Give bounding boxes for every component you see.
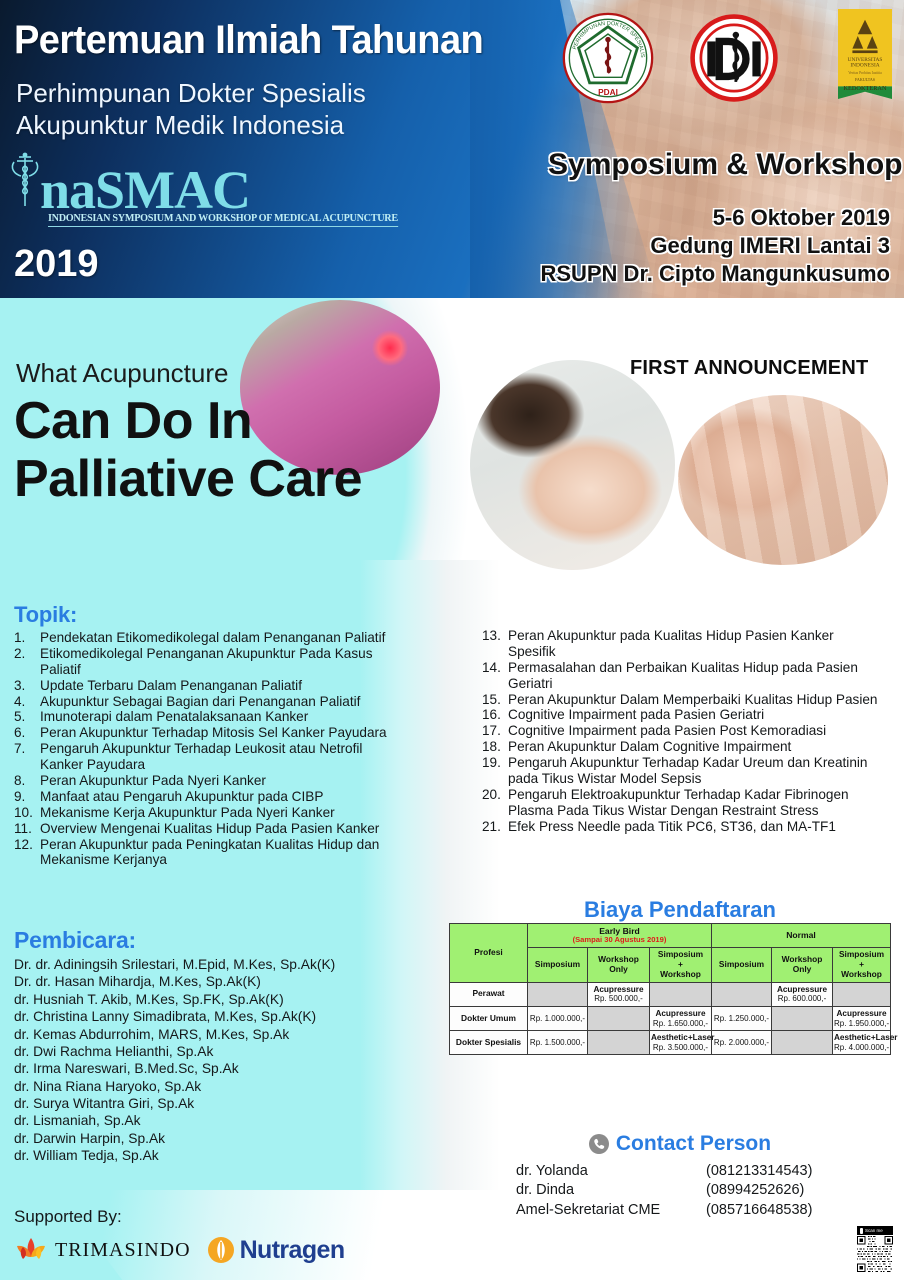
nasmac-logo: naSMAC INDONESIAN SYMPOSIUM AND WORKSHOP… [8,152,409,227]
caduceus-icon [8,152,42,208]
topic-item: 5.Imunoterapi dalam Penatalaksanaan Kank… [14,709,394,725]
fee-cell-eb-simposium: Rp. 1.000.000,- [528,1006,588,1030]
nutragen-wheat-icon [207,1236,235,1264]
fee-col-eb-workshop-l1: Workshop [598,954,639,964]
svg-text:KEDOKTERAN: KEDOKTERAN [843,85,886,92]
fee-group-normal: Normal [712,924,891,948]
contact-name: dr. Yolanda [516,1162,706,1181]
fee-cell-tag: Acupressure [651,1009,710,1019]
event-details: 5-6 Oktober 2019 Gedung IMERI Lantai 3 R… [540,204,890,288]
contact-row: dr. Yolanda(081213314543) [516,1162,856,1181]
fee-cell-n-simposium [712,982,772,1006]
topic-text: Cognitive Impairment pada Pasien Geriatr… [508,707,764,722]
speakers-list: Dr. dr. Adiningsih Srilestari, M.Epid, M… [14,956,414,1165]
qr-section[interactable]: Scan me [852,1226,898,1277]
speaker-item: dr. Husniah T. Akib, M.Kes, Sp.FK, Sp.Ak… [14,991,414,1008]
topic-number: 6. [14,725,36,741]
fee-cell-tag: Acupressure [834,1009,889,1019]
topic-text: Etikomedikolegal Penanganan Akupunktur P… [40,646,373,677]
fee-table-body: PerawatAcupressureRp. 500.000,-Acupressu… [450,982,891,1054]
nasmac-tagline: INDONESIAN SYMPOSIUM AND WORKSHOP OF MED… [48,213,398,227]
topic-item: 6.Peran Akupunktur Terhadap Mitosis Sel … [14,725,394,741]
topics-list-right: 13.Peran Akupunktur pada Kualitas Hidup … [482,628,884,835]
fee-cell-n-workshop [772,1031,833,1055]
topic-text: Peran Akupunktur Pada Nyeri Kanker [40,773,266,788]
topic-item: 7.Pengaruh Akupunktur Terhadap Leukosit … [14,741,394,773]
speaker-item: dr. Christina Lanny Simadibrata, M.Kes, … [14,1008,414,1025]
topic-number: 9. [14,789,36,805]
fee-col-eb-workshop-l2: Only [609,964,628,974]
topic-item: 18.Peran Akupunktur Dalam Cognitive Impa… [482,739,884,755]
topic-number: 8. [14,773,36,789]
fee-table-group-header-row: Profesi Early Bird (Sampai 30 Agustus 20… [450,924,891,948]
topic-number: 21. [482,819,504,835]
first-announcement-badge: FIRST ANNOUNCEMENT [630,357,868,380]
contact-row: dr. Dinda(08994252626) [516,1181,856,1200]
fee-cell-price: Rp. 2.000.000,- [714,1038,769,1047]
topic-number: 13. [482,628,504,644]
speaker-item: dr. William Tedja, Sp.Ak [14,1147,414,1164]
speaker-item: dr. Darwin Harpin, Sp.Ak [14,1130,414,1147]
fee-cell-eb-workshop [588,1006,650,1030]
fee-table-row: PerawatAcupressureRp. 500.000,-Acupressu… [450,982,891,1006]
fee-section-title: Biaya Pendaftaran [470,897,890,923]
fee-cell-price: Rp. 1.650.000,- [653,1019,708,1028]
topic-item: 3.Update Terbaru Dalam Penanganan Paliat… [14,678,394,694]
topic-text: Manfaat atau Pengaruh Akupunktur pada CI… [40,789,323,804]
topic-number: 12. [14,837,36,853]
topics-section-left: Topik: 1.Pendekatan Etikomedikolegal dal… [14,602,394,868]
fee-cell-n-combo [833,982,891,1006]
nasmac-wordmark: naSMAC [40,168,250,212]
fee-cell-price: Rp. 600.000,- [778,994,826,1003]
headline-main: Can Do In Palliative Care [14,392,362,508]
topic-item: 9.Manfaat atau Pengaruh Akupunktur pada … [14,789,394,805]
topic-text: Peran Akupunktur Dalam Memperbaiki Kuali… [508,692,878,707]
topic-text: Pengaruh Akupunktur Terhadap Leukosit at… [40,741,362,772]
topic-item: 17.Cognitive Impairment pada Pasien Post… [482,723,884,739]
fee-cell-price: Rp. 1.950.000,- [834,1019,889,1028]
topic-number: 5. [14,709,36,725]
fee-cell-price: Rp. 1.000.000,- [530,1014,585,1023]
topic-number: 2. [14,646,36,662]
fee-col-eb-simposium: Simposium [528,948,588,983]
fee-col-n-workshop-l1: Workshop [782,954,823,964]
topic-number: 17. [482,723,504,739]
topic-number: 7. [14,741,36,757]
event-year: 2019 [14,243,99,286]
svg-text:Veritas Probitas Iustitia: Veritas Probitas Iustitia [848,71,882,75]
fee-table-row: Dokter UmumRp. 1.000.000,-AcupressureRp.… [450,1006,891,1030]
fee-cell-n-combo: Aesthetic+LaserRp. 4.000.000,- [833,1031,891,1055]
phone-icon [589,1134,609,1154]
fee-cell-tag: Aesthetic+Laser [651,1033,710,1043]
topic-number: 11. [14,821,36,837]
fee-col-eb-combo-l2: + [678,959,683,969]
topic-text: Imunoterapi dalam Penatalaksanaan Kanker [40,709,308,724]
sponsor-logos: TRIMASINDO Nutragen [14,1235,345,1265]
headline-line-2: Palliative Care [14,450,362,508]
topic-number: 20. [482,787,504,803]
headline-kicker: What Acupuncture [16,358,228,389]
svg-text:FAKULTAS: FAKULTAS [855,77,875,82]
supported-by-label: Supported By: [14,1207,122,1227]
topic-text: Pendekatan Etikomedikolegal dalam Penang… [40,630,385,645]
topic-text: Pengaruh Akupunktur Terhadap Kadar Ureum… [508,755,867,786]
contact-name: dr. Dinda [516,1181,706,1200]
topic-text: Permasalahan dan Perbaikan Kualitas Hidu… [508,660,858,691]
topic-item: 11.Overview Mengenai Kualitas Hidup Pada… [14,821,394,837]
speaker-item: dr. Nina Riana Haryoko, Sp.Ak [14,1078,414,1095]
fee-cell-eb-simposium [528,982,588,1006]
topics-section-right: 13.Peran Akupunktur pada Kualitas Hidup … [482,626,884,835]
topics-list-left: 1.Pendekatan Etikomedikolegal dalam Pena… [14,630,394,868]
event-venue-building: Gedung IMERI Lantai 3 [540,232,890,260]
fee-cell-eb-workshop: AcupressureRp. 500.000,- [588,982,650,1006]
fee-cell-n-simposium: Rp. 1.250.000,- [712,1006,772,1030]
fee-row-profession: Dokter Spesialis [450,1031,528,1055]
topic-item: 13.Peran Akupunktur pada Kualitas Hidup … [482,628,884,660]
trimasindo-lotus-icon [14,1235,48,1265]
topic-item: 15.Peran Akupunktur Dalam Memperbaiki Ku… [482,692,884,708]
topic-number: 10. [14,805,36,821]
svg-text:INDONESIA: INDONESIA [850,63,879,69]
speakers-section: Pembicara: Dr. dr. Adiningsih Srilestari… [14,927,414,1165]
trimasindo-label: TRIMASINDO [55,1239,191,1262]
fee-cell-price: Rp. 1.500.000,- [530,1038,585,1047]
speaker-item: Dr. dr. Adiningsih Srilestari, M.Epid, M… [14,956,414,973]
speaker-item: dr. Irma Nareswari, B.Med.Sc, Sp.Ak [14,1060,414,1077]
speakers-heading: Pembicara: [14,927,414,954]
fee-group-early-note: (Sampai 30 Agustus 2019) [529,936,710,945]
topic-item: 16.Cognitive Impairment pada Pasien Geri… [482,707,884,723]
topic-item: 2.Etikomedikolegal Penanganan Akupunktur… [14,646,394,678]
fee-row-profession: Dokter Umum [450,1006,528,1030]
photo-facial-acupuncture [470,360,675,570]
topic-text: Pengaruh Elektroakupunktur Terhadap Kada… [508,787,849,818]
topic-item: 19.Pengaruh Akupunktur Terhadap Kadar Ur… [482,755,884,787]
photo-hand-acupressure [678,395,888,565]
contact-phone[interactable]: (085716648538) [706,1201,856,1220]
fee-col-n-combo: Simposium + Workshop [833,948,891,983]
topic-number: 4. [14,694,36,710]
contact-name: Amel-Sekretariat CME [516,1201,706,1220]
topic-text: Efek Press Needle pada Titik PC6, ST36, … [508,819,836,834]
fee-cell-eb-combo: Aesthetic+LaserRp. 3.500.000,- [650,1031,712,1055]
registration-fee-table: Profesi Early Bird (Sampai 30 Agustus 20… [449,923,891,1055]
topic-text: Peran Akupunktur Terhadap Mitosis Sel Ka… [40,725,387,740]
fee-cell-price: Rp. 4.000.000,- [834,1043,889,1052]
topic-item: 14.Permasalahan dan Perbaikan Kualitas H… [482,660,884,692]
fee-group-early-bird: Early Bird (Sampai 30 Agustus 2019) [528,924,712,948]
organization-line-1: Perhimpunan Dokter Spesialis [16,78,366,110]
contact-row: Amel-Sekretariat CME(085716648538) [516,1201,856,1220]
contact-list: dr. Yolanda(081213314543)dr. Dinda(08994… [516,1162,856,1220]
topic-text: Cognitive Impairment pada Pasien Post Ke… [508,723,826,738]
topic-text: Akupunktur Sebagai Bagian dari Penangana… [40,694,360,709]
topic-text: Peran Akupunktur Dalam Cognitive Impairm… [508,739,791,754]
fee-cell-price: Rp. 500.000,- [594,994,642,1003]
fee-col-n-simposium: Simposium [712,948,772,983]
speaker-item: Dr. dr. Hasan Mihardja, M.Kes, Sp.Ak(K) [14,973,414,990]
fee-cell-n-simposium: Rp. 2.000.000,- [712,1031,772,1055]
topic-item: 1.Pendekatan Etikomedikolegal dalam Pena… [14,630,394,646]
contact-phone[interactable]: (081213314543) [706,1162,856,1181]
fee-col-eb-workshop: Workshop Only [588,948,650,983]
topic-text: Peran Akupunktur pada Peningkatan Kualit… [40,837,379,868]
speaker-item: dr. Surya Witantra Giri, Sp.Ak [14,1095,414,1112]
fee-table-row: Dokter SpesialisRp. 1.500.000,-Aesthetic… [450,1031,891,1055]
fee-cell-n-combo: AcupressureRp. 1.950.000,- [833,1006,891,1030]
speaker-item: dr. Dwi Rachma Helianthi, Sp.Ak [14,1043,414,1060]
fee-col-n-workshop: Workshop Only [772,948,833,983]
topic-item: 4.Akupunktur Sebagai Bagian dari Penanga… [14,694,394,710]
fee-cell-eb-combo [650,982,712,1006]
contact-phone[interactable]: (08994252626) [706,1181,856,1200]
fee-cell-price: Rp. 1.250.000,- [714,1014,769,1023]
event-date: 5-6 Oktober 2019 [540,204,890,232]
event-venue-hospital: RSUPN Dr. Cipto Mangunkusumo [540,260,890,288]
fee-col-n-workshop-l2: Only [793,964,812,974]
fee-cell-eb-workshop [588,1031,650,1055]
fee-cell-eb-simposium: Rp. 1.500.000,- [528,1031,588,1055]
topic-number: 15. [482,692,504,708]
fee-row-profession: Perawat [450,982,528,1006]
topics-heading: Topik: [14,602,394,628]
fee-col-n-combo-l1: Simposium [839,949,884,959]
topic-number: 1. [14,630,36,646]
topic-item: 20.Pengaruh Elektroakupunktur Terhadap K… [482,787,884,819]
fee-cell-price: Rp. 3.500.000,- [653,1043,708,1052]
topic-item: 21.Efek Press Needle pada Titik PC6, ST3… [482,819,884,835]
topic-text: Mekanisme Kerja Akupunktur Pada Nyeri Ka… [40,805,335,820]
headline-line-1: Can Do In [14,392,362,450]
qr-scan-label: Scan me [865,1228,883,1233]
topic-text: Overview Mengenai Kualitas Hidup Pada Pa… [40,821,379,836]
fee-cell-n-workshop [772,1006,833,1030]
poster-header: Pertemuan Ilmiah Tahunan Perhimpunan Dok… [0,0,904,300]
svg-text:PDAI: PDAI [598,88,618,97]
topic-number: 18. [482,739,504,755]
topic-item: 8.Peran Akupunktur Pada Nyeri Kanker [14,773,394,789]
topic-number: 16. [482,707,504,723]
fee-cell-tag: Acupressure [589,985,648,995]
fee-cell-tag: Acupressure [773,985,831,995]
topic-item: 10.Mekanisme Kerja Akupunktur Pada Nyeri… [14,805,394,821]
page-title: Pertemuan Ilmiah Tahunan [14,18,483,63]
fee-col-eb-combo-l3: Workshop [660,969,701,979]
event-type-title: Symposium & Workshop [548,148,903,182]
contact-heading: Contact Person [616,1132,771,1156]
fee-col-eb-combo: Simposium + Workshop [650,948,712,983]
trimasindo-sponsor: TRIMASINDO [14,1235,191,1265]
topic-number: 3. [14,678,36,694]
ui-fk-logo-icon: UNIVERSITAS INDONESIA Veritas Probitas I… [838,8,892,100]
nutragen-label: Nutragen [240,1236,345,1265]
contact-heading-row: Contact Person [470,1132,890,1156]
organization-name: Perhimpunan Dokter Spesialis Akupunktur … [16,78,366,141]
speaker-item: dr. Kemas Abdurrohim, MARS, M.Kes, Sp.Ak [14,1026,414,1043]
fee-col-n-combo-l2: + [859,959,864,969]
topic-number: 14. [482,660,504,676]
topic-text: Peran Akupunktur pada Kualitas Hidup Pas… [508,628,834,659]
topic-text: Update Terbaru Dalam Penanganan Paliatif [40,678,302,693]
idi-logo-icon [688,12,780,104]
phone-glyph-icon [860,1228,863,1234]
fee-col-profesi: Profesi [450,924,528,983]
pdai-logo-icon: PDAI PERHIMPUNAN DOKTER SPESIALIS AKUPUN… [562,12,654,104]
fee-col-n-combo-l3: Workshop [841,969,882,979]
qr-scan-label-bar: Scan me [857,1226,893,1235]
qr-code-icon[interactable] [852,1236,898,1272]
topic-item: 12.Peran Akupunktur pada Peningkatan Kua… [14,837,394,869]
fee-cell-eb-combo: AcupressureRp. 1.650.000,- [650,1006,712,1030]
speaker-item: dr. Lismaniah, Sp.Ak [14,1112,414,1129]
topic-number: 19. [482,755,504,771]
fee-col-eb-combo-l1: Simposium [658,949,703,959]
nutragen-sponsor: Nutragen [207,1236,345,1265]
poster-root: Pertemuan Ilmiah Tahunan Perhimpunan Dok… [0,0,904,1280]
fee-cell-n-workshop: AcupressureRp. 600.000,- [772,982,833,1006]
fee-cell-tag: Aesthetic+Laser [834,1033,889,1043]
organization-line-2: Akupunktur Medik Indonesia [16,110,366,142]
